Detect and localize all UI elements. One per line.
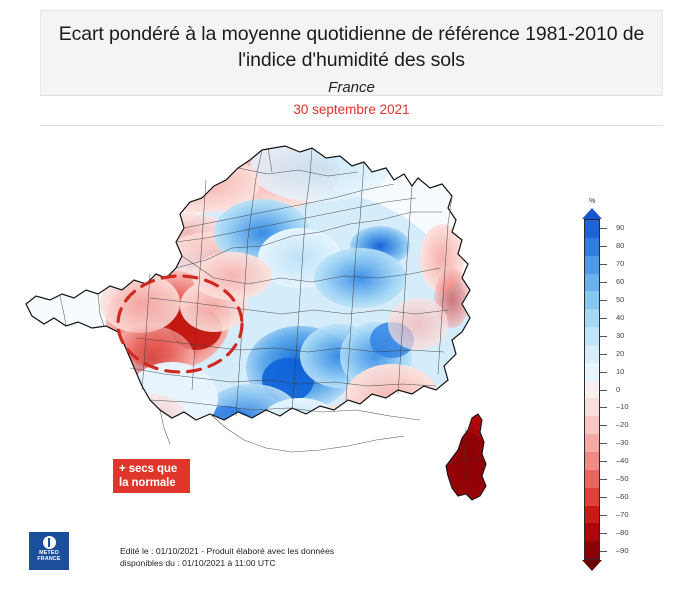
colorbar-tick: 30 [600, 336, 660, 337]
tick-label: –70 [616, 510, 629, 519]
colorbar-tick: –40 [600, 461, 660, 462]
tick-label: 40 [616, 313, 624, 322]
map-date: 30 septembre 2021 [293, 102, 409, 117]
tick-label: –10 [616, 402, 629, 411]
colorbar-tick: 90 [600, 228, 660, 229]
colorbar-tick: 10 [600, 372, 660, 373]
colorbar-tick: –90 [600, 551, 660, 552]
colorbar-segment-2 [585, 256, 599, 274]
colorbar-segment-0 [585, 220, 599, 238]
tick-line [600, 300, 607, 301]
date-band: 30 septembre 2021 [40, 95, 663, 126]
soil-moisture-map: + secs que la normale [0, 128, 560, 538]
colorbar-segment-13 [585, 452, 599, 470]
tick-label: 30 [616, 331, 624, 340]
tick-label: –60 [616, 492, 629, 501]
colorbar-segment-7 [585, 345, 599, 363]
tick-line [600, 461, 607, 462]
page-title: Ecart pondéré à la moyenne quotidienne d… [55, 21, 648, 73]
tick-label: –30 [616, 438, 629, 447]
colorbar-tick: 70 [600, 264, 660, 265]
colorbar-segment-16 [585, 506, 599, 524]
colorbar-tick: –10 [600, 407, 660, 408]
credit-line-2: disponibles du : 01/10/2021 à 11:00 UTC [120, 557, 334, 569]
colorbar-segment-17 [585, 523, 599, 541]
tick-line [600, 443, 607, 444]
tick-line [600, 497, 607, 498]
colorbar-segment-1 [585, 238, 599, 256]
colorbar-tick: 50 [600, 300, 660, 301]
colorbar-arrow-bottom-icon [582, 560, 602, 571]
colorbar-tick: 40 [600, 318, 660, 319]
colorbar-tick: 0 [600, 390, 660, 391]
colorbar-segment-11 [585, 416, 599, 434]
tick-line [600, 282, 607, 283]
colorbar-tick: –70 [600, 515, 660, 516]
tick-label: –90 [616, 546, 629, 555]
tick-label: 50 [616, 295, 624, 304]
colorbar-segment-14 [585, 470, 599, 488]
tick-label: 80 [616, 241, 624, 250]
tick-label: 10 [616, 367, 624, 376]
colorbar-tick: –60 [600, 497, 660, 498]
annotation-line-2: la normale [119, 476, 185, 490]
colorbar-tick: –20 [600, 425, 660, 426]
colorbar-segment-6 [585, 327, 599, 345]
logo-line-2: FRANCE [29, 556, 69, 562]
colorbar-arrow-top-icon [582, 208, 602, 219]
colorbar-segment-4 [585, 291, 599, 309]
tick-line [600, 390, 607, 391]
colorbar-tick: 60 [600, 282, 660, 283]
tick-line [600, 407, 607, 408]
colorbar-segment-12 [585, 434, 599, 452]
colorbar-tick: 20 [600, 354, 660, 355]
tick-line [600, 425, 607, 426]
annotation-callout: + secs que la normale [113, 459, 190, 493]
colorbar-segment-10 [585, 398, 599, 416]
colorbar-segment-18 [585, 541, 599, 559]
colorbar-segment-3 [585, 274, 599, 292]
tick-label: 60 [616, 277, 624, 286]
colorbar-ticks: 9080706050403020100–10–20–30–40–50–60–70… [600, 219, 660, 560]
tick-line [600, 372, 607, 373]
tick-label: 70 [616, 259, 624, 268]
colorbar-unit-label: % [589, 198, 595, 205]
tick-label: –50 [616, 474, 629, 483]
colorbar-gradient [584, 219, 600, 560]
tick-line [600, 336, 607, 337]
tick-line [600, 533, 607, 534]
colorbar-segment-9 [585, 381, 599, 399]
tick-label: 0 [616, 385, 620, 394]
colorbar-tick: –50 [600, 479, 660, 480]
tick-label: –40 [616, 456, 629, 465]
tick-label: 90 [616, 223, 624, 232]
tick-label: –20 [616, 420, 629, 429]
tick-line [600, 479, 607, 480]
colorbar-legend: % 9080706050403020100–10–20–30–40–50–60–… [578, 198, 668, 583]
credit-text: Edité le : 01/10/2021 - Produit élaboré … [120, 545, 334, 569]
header-panel: Ecart pondéré à la moyenne quotidienne d… [40, 10, 663, 106]
tick-line [600, 228, 607, 229]
tick-line [600, 551, 607, 552]
tick-label: –80 [616, 528, 629, 537]
tick-line [600, 515, 607, 516]
tick-line [600, 318, 607, 319]
tick-label: 20 [616, 349, 624, 358]
colorbar-tick: –80 [600, 533, 660, 534]
tick-line [600, 354, 607, 355]
meteo-france-mark-icon [43, 536, 56, 549]
tick-line [600, 246, 607, 247]
france-map-svg [0, 128, 560, 538]
tick-line [600, 264, 607, 265]
colorbar-segment-15 [585, 488, 599, 506]
colorbar-tick: 80 [600, 246, 660, 247]
colorbar-segment-5 [585, 309, 599, 327]
credit-line-1: Edité le : 01/10/2021 - Produit élaboré … [120, 545, 334, 557]
annotation-line-1: + secs que [119, 462, 185, 476]
meteo-france-logo: METEO FRANCE [29, 532, 69, 570]
colorbar-tick: –30 [600, 443, 660, 444]
colorbar-segment-8 [585, 363, 599, 381]
